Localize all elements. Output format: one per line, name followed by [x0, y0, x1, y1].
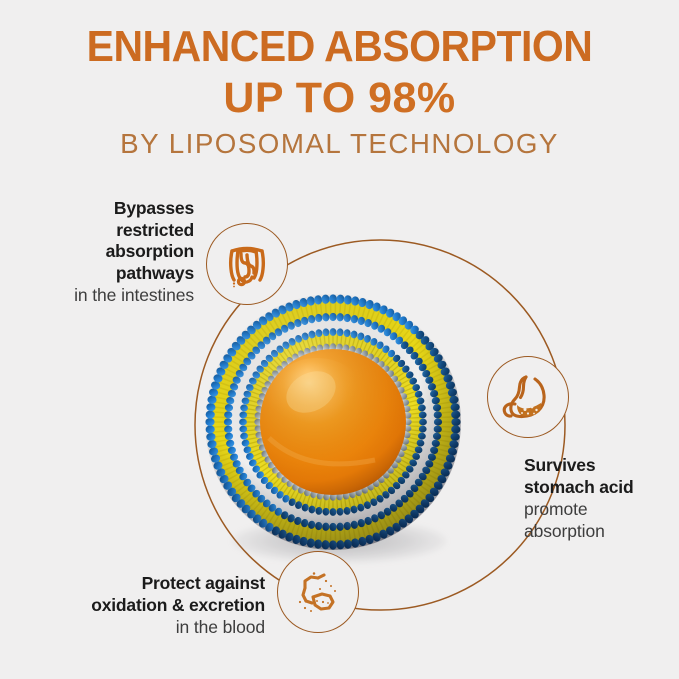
badge-bacteria[interactable]: [277, 551, 359, 633]
label-intestines-bold-4: pathways: [4, 263, 194, 285]
infographic-canvas: ENHANCED ABSORPTION UP TO 98% BY LIPOSOM…: [0, 0, 679, 679]
intestines-icon: [221, 238, 273, 290]
headline-line-1: ENHANCED ABSORPTION: [24, 22, 655, 72]
label-stomach: Survives stomach acid promote absorption: [524, 455, 676, 542]
label-bacteria-bold-2: oxidation & excretion: [10, 595, 265, 617]
label-stomach-light-1: promote: [524, 498, 676, 520]
badge-intestines[interactable]: [206, 223, 288, 305]
label-bacteria: Protect against oxidation & excretion in…: [10, 573, 265, 638]
label-bacteria-bold-1: Protect against: [10, 573, 265, 595]
badge-stomach[interactable]: [487, 356, 569, 438]
headline-subtitle: BY LIPOSOMAL TECHNOLOGY: [3, 124, 675, 164]
label-stomach-bold-2: stomach acid: [524, 477, 676, 499]
label-intestines-bold-3: absorption: [4, 241, 194, 263]
stomach-icon: [501, 372, 555, 422]
bacteria-icon: [292, 568, 344, 616]
label-intestines: Bypasses restricted absorption pathways …: [4, 198, 194, 306]
label-intestines-light-1: in the intestines: [4, 284, 194, 306]
label-stomach-bold-1: Survives: [524, 455, 676, 477]
label-intestines-bold-2: restricted: [4, 220, 194, 242]
headline-line-2: UP TO 98%: [0, 72, 679, 124]
headline-block: ENHANCED ABSORPTION UP TO 98% BY LIPOSOM…: [0, 22, 679, 164]
label-stomach-light-2: absorption: [524, 520, 676, 542]
liposome-illustration: [199, 288, 467, 556]
label-intestines-bold-1: Bypasses: [4, 198, 194, 220]
label-bacteria-light-1: in the blood: [10, 616, 265, 638]
